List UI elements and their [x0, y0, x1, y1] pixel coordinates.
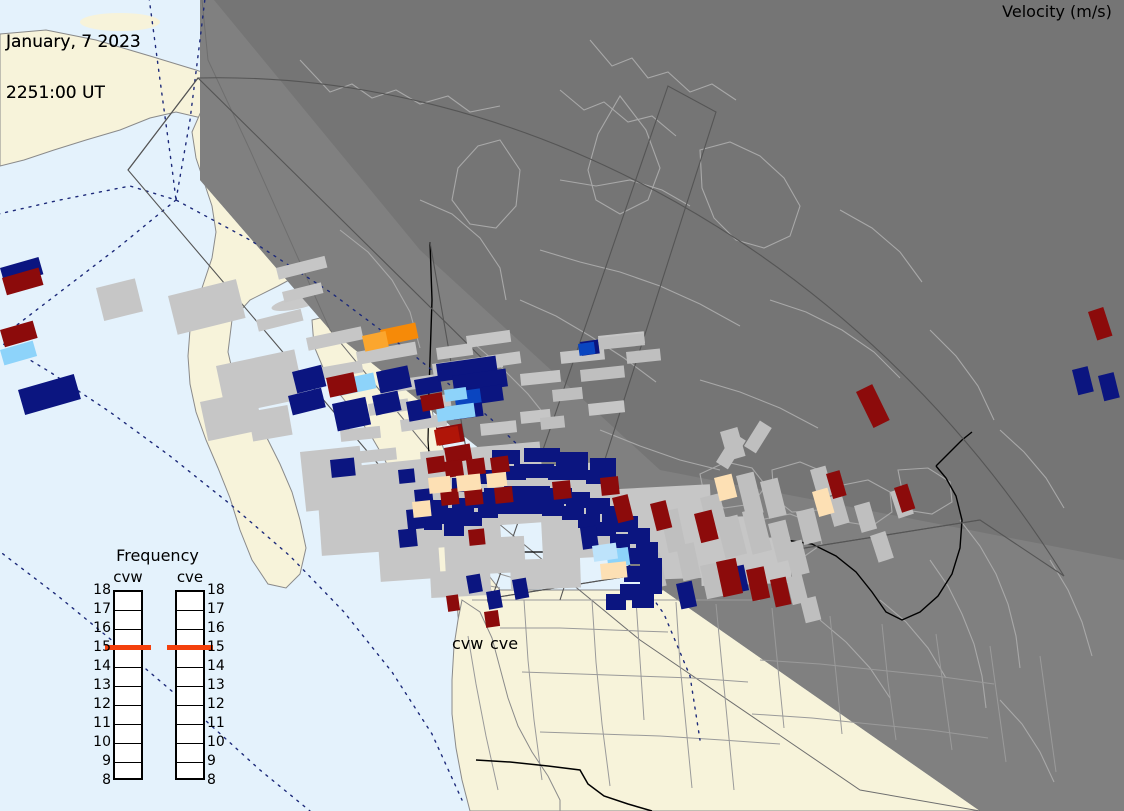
- velocity-colorbar: Velocity (m/s) 5004003002001000-100-200-…: [990, 0, 1124, 340]
- frequency-cell[interactable]: [177, 744, 203, 763]
- superdarn-velocity-map: January, 7 2023 2251:00 UT Velocity (m/s…: [0, 0, 1124, 811]
- frequency-tick-label: 14: [207, 658, 233, 674]
- frequency-cell[interactable]: [115, 706, 141, 725]
- frequency-tick-label: 11: [85, 715, 111, 731]
- frequency-tick-label: 12: [85, 696, 111, 712]
- frequency-tick-label: 18: [207, 582, 233, 598]
- frequency-cell[interactable]: [177, 592, 203, 611]
- frequency-tick-label: 8: [85, 772, 111, 788]
- frequency-legend: Frequency cvw18171615141312111098cve1817…: [85, 546, 230, 786]
- frequency-tick-label: 17: [207, 601, 233, 617]
- frequency-tick-label: 10: [85, 734, 111, 750]
- frequency-tick-label: 16: [207, 620, 233, 636]
- frequency-cell[interactable]: [177, 687, 203, 706]
- frequency-cell[interactable]: [115, 592, 141, 611]
- frequency-tick-label: 10: [207, 734, 233, 750]
- frequency-cell[interactable]: [115, 649, 141, 668]
- title-date: January, 7 2023: [6, 34, 141, 51]
- frequency-tick-label: 9: [207, 753, 233, 769]
- frequency-column-cvw: cvw: [105, 568, 151, 586]
- frequency-cell[interactable]: [177, 763, 203, 782]
- frequency-tick-label: 15: [85, 639, 111, 655]
- frequency-cell[interactable]: [115, 725, 141, 744]
- frequency-scale-cvw: 18171615141312111098: [85, 590, 111, 780]
- frequency-tick-label: 18: [85, 582, 111, 598]
- frequency-cell[interactable]: [177, 725, 203, 744]
- frequency-tick-label: 14: [85, 658, 111, 674]
- frequency-cell[interactable]: [115, 744, 141, 763]
- frequency-tick-label: 8: [207, 772, 233, 788]
- frequency-bar-cvw[interactable]: [113, 590, 143, 780]
- frequency-cell[interactable]: [177, 668, 203, 687]
- timestamp-title: January, 7 2023 2251:00 UT: [6, 0, 141, 136]
- frequency-cell[interactable]: [177, 706, 203, 725]
- frequency-legend-title: Frequency: [85, 546, 230, 565]
- title-time: 2251:00 UT: [6, 85, 141, 102]
- frequency-tick-label: 15: [207, 639, 233, 655]
- radar-site-label-cvw: cvw: [452, 634, 483, 653]
- frequency-cell[interactable]: [177, 649, 203, 668]
- frequency-tick-label: 13: [207, 677, 233, 693]
- frequency-marker-cvw: [105, 645, 151, 650]
- frequency-tick-label: 16: [85, 620, 111, 636]
- frequency-tick-label: 11: [207, 715, 233, 731]
- radar-site-label-cve: cve: [490, 634, 518, 653]
- frequency-tick-label: 12: [207, 696, 233, 712]
- frequency-cell[interactable]: [177, 611, 203, 630]
- frequency-tick-label: 17: [85, 601, 111, 617]
- frequency-cell[interactable]: [115, 687, 141, 706]
- frequency-cell[interactable]: [115, 763, 141, 782]
- frequency-bar-cve[interactable]: [175, 590, 205, 780]
- frequency-tick-label: 13: [85, 677, 111, 693]
- frequency-cell[interactable]: [115, 611, 141, 630]
- colorbar-title: Velocity (m/s): [990, 2, 1124, 21]
- frequency-cell[interactable]: [115, 668, 141, 687]
- frequency-scale-cve: 18171615141312111098: [207, 590, 233, 780]
- frequency-tick-label: 9: [85, 753, 111, 769]
